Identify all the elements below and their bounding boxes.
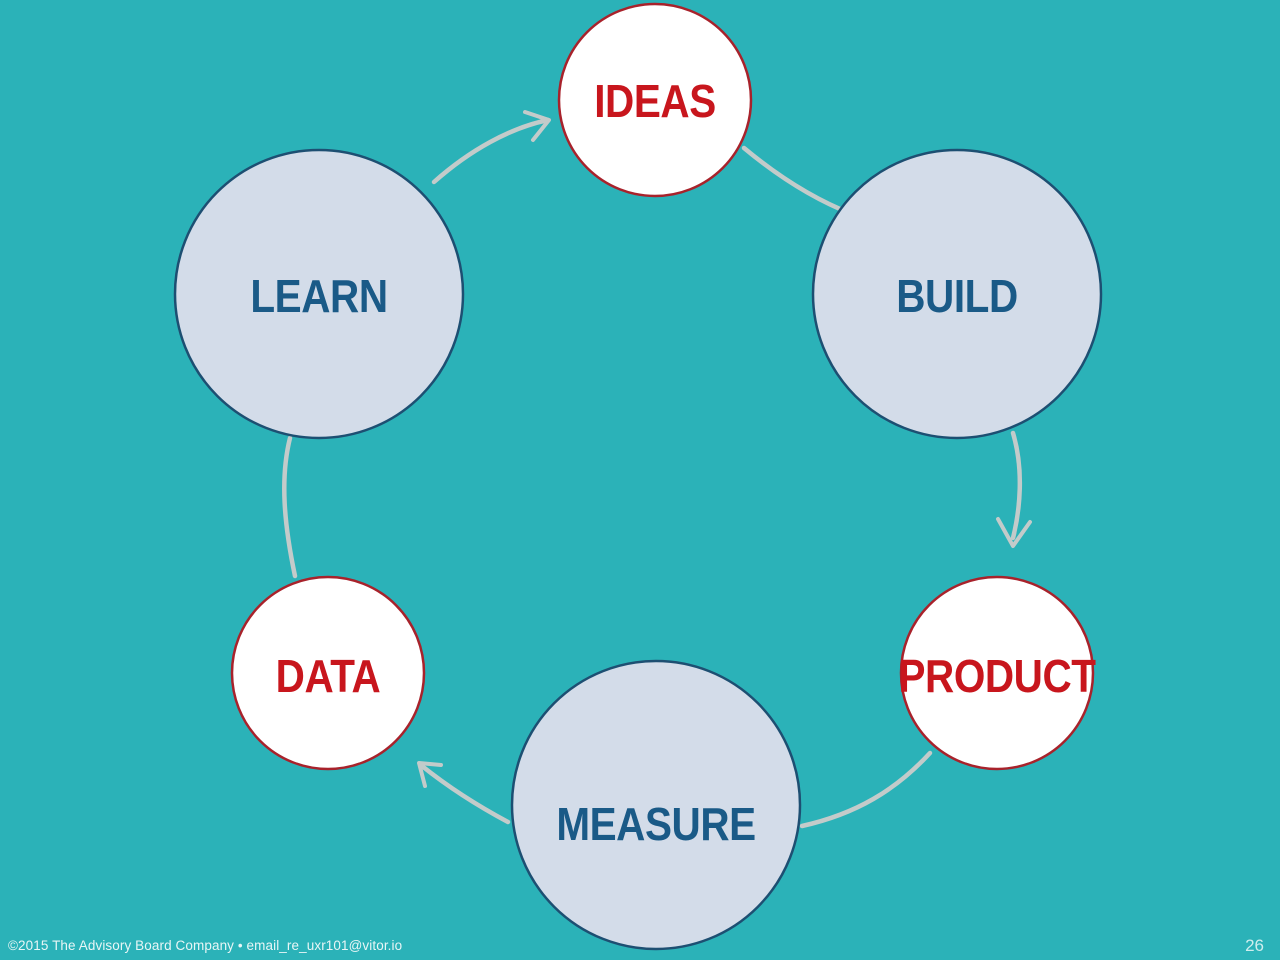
- node-circle-build[interactable]: [813, 150, 1101, 438]
- connector-learn-to-ideas: [434, 120, 548, 182]
- slide-page-number: 26: [1245, 936, 1264, 956]
- slide-footer-copyright: ©2015 The Advisory Board Company • email…: [8, 938, 402, 953]
- connector-measure-to-data: [422, 766, 508, 822]
- connector-data-to-learn: [284, 438, 295, 576]
- node-circle-ideas[interactable]: [559, 4, 751, 196]
- node-circle-product[interactable]: [901, 577, 1093, 769]
- slide-canvas: IDEAS BUILD PRODUCT MEASURE DATA LEARN ©…: [0, 0, 1280, 960]
- node-circle-learn[interactable]: [175, 150, 463, 438]
- node-layer: [175, 4, 1101, 949]
- node-circle-measure[interactable]: [512, 661, 800, 949]
- node-circle-data[interactable]: [232, 577, 424, 769]
- connector-ideas-to-build: [744, 148, 852, 214]
- connector-product-to-measure: [802, 753, 930, 826]
- cycle-diagram: [0, 0, 1280, 960]
- connector-build-to-product: [1013, 433, 1020, 538]
